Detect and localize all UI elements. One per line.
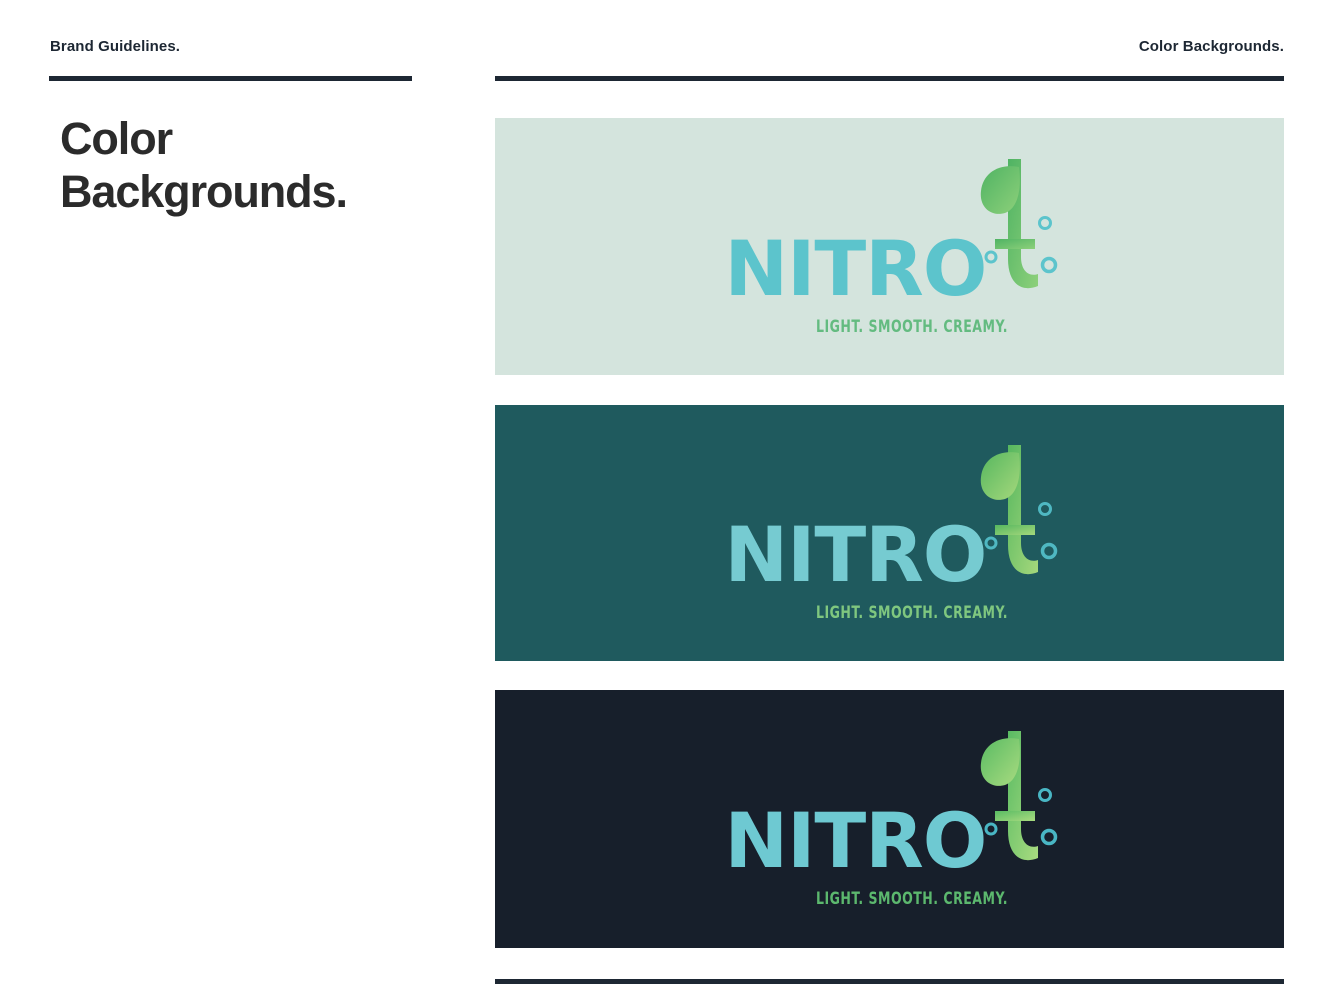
logo-lockup: NITRO LIGHT. SM — [725, 729, 1055, 909]
color-background-swatch-light-mint: NITRO LIGHT. SM — [495, 118, 1284, 375]
logo-wordmark: NITRO — [725, 517, 987, 593]
logo-wordmark: NITRO — [725, 231, 987, 307]
page-title-line-1: Color — [60, 113, 440, 166]
logo-wordmark: NITRO — [725, 803, 987, 879]
logo-tagline: LIGHT. SMOOTH. CREAMY. — [794, 889, 1029, 909]
nitro-leaf-sprout-mark — [975, 153, 1061, 303]
logo-tagline: LIGHT. SMOOTH. CREAMY. — [794, 317, 1029, 337]
logo-tagline: LIGHT. SMOOTH. CREAMY. — [794, 603, 1029, 623]
header-brand-guidelines-label: Brand Guidelines. — [50, 38, 180, 55]
page-title: Color Backgrounds. — [60, 113, 440, 218]
logo-lockup: NITRO LIGHT. SM — [725, 443, 1055, 623]
logo-lockup-row: NITRO — [725, 157, 1055, 307]
color-background-swatch-deep-teal: NITRO LIGHT. SM — [495, 405, 1284, 661]
color-background-swatch-dark-navy: NITRO LIGHT. SM — [495, 690, 1284, 948]
rule-bottom — [495, 979, 1284, 984]
nitro-leaf-sprout-mark — [975, 439, 1061, 589]
logo-lockup-row: NITRO — [725, 729, 1055, 879]
header-section-label: Color Backgrounds. — [1139, 38, 1284, 55]
page-title-line-2: Backgrounds. — [60, 166, 440, 219]
rule-right-top — [495, 76, 1284, 81]
nitro-leaf-sprout-mark — [975, 725, 1061, 875]
rule-left-top — [49, 76, 412, 81]
logo-lockup: NITRO LIGHT. SM — [725, 157, 1055, 337]
logo-lockup-row: NITRO — [725, 443, 1055, 593]
